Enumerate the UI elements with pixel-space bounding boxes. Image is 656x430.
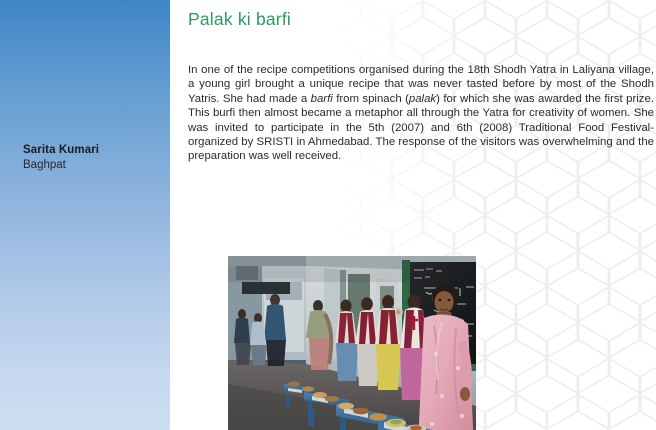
article-body-text: In one of the recipe competitions organi… (188, 63, 654, 164)
sidebar-edge-divider (170, 0, 173, 430)
person-credit-block: Sarita Kumari Baghpat (23, 143, 163, 173)
article-photo (228, 256, 476, 430)
sidebar-panel (0, 0, 170, 430)
article-content: Palak ki barfi In one of the recipe comp… (188, 0, 656, 430)
person-location: Baghpat (23, 158, 163, 173)
photo-illustration (228, 256, 476, 430)
person-name: Sarita Kumari (23, 143, 163, 158)
page-root: Sarita Kumari Baghpat Palak ki barfi In … (0, 0, 656, 430)
page-title: Palak ki barfi (188, 9, 291, 30)
